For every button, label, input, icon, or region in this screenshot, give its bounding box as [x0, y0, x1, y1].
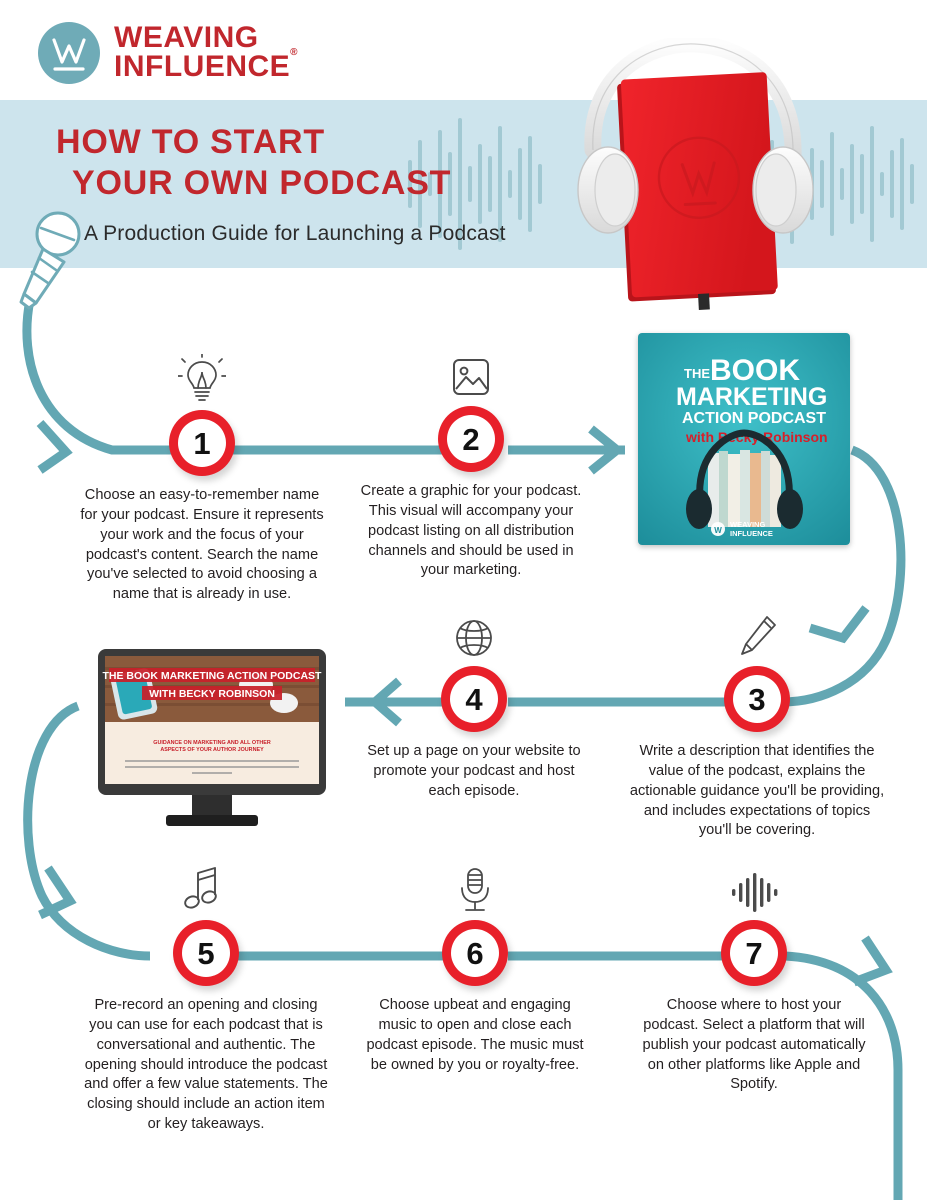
step-number: 6: [466, 938, 483, 969]
lightbulb-icon: [178, 352, 226, 404]
step-badge-2: 2: [438, 406, 504, 472]
step-description: Choose upbeat and engaging music to open…: [360, 996, 590, 1075]
step-number: 1: [193, 428, 210, 459]
step-number: 2: [462, 424, 479, 455]
step-number: 3: [748, 684, 765, 715]
step-badge-3: 3: [724, 666, 790, 732]
step-4: 4 Set up a page on your website to promo…: [360, 608, 588, 802]
monitor-banner-line2: WITH BECKY ROBINSON: [149, 688, 275, 700]
cover-the-label: THE: [684, 366, 710, 381]
step-description: Pre-record an opening and closing you ca…: [82, 996, 330, 1135]
title-line-2: YOUR OWN PODCAST: [72, 163, 451, 204]
audio-waveform-icon: [728, 862, 780, 914]
step-number: 4: [465, 684, 482, 715]
step-number: 7: [745, 938, 762, 969]
svg-text:W: W: [714, 526, 722, 535]
microphone-illustration-icon: [8, 208, 94, 318]
pencil-icon: [735, 608, 779, 660]
step-description: Choose where to host your podcast. Selec…: [638, 996, 870, 1095]
music-notes-icon: [181, 862, 231, 914]
image-placeholder-icon: [448, 348, 494, 400]
step-2: 2 Create a graphic for your podcast. Thi…: [358, 348, 584, 581]
globe-icon: [452, 608, 496, 660]
cover-logo-line2: INFLUENCE: [730, 529, 773, 538]
monitor-banner-line1: THE BOOK MARKETING ACTION PODCAST: [103, 670, 323, 682]
step-description: Write a description that identifies the …: [628, 742, 886, 841]
cover-logo-line1: WEAVING: [730, 520, 765, 529]
step-badge-6: 6: [442, 920, 508, 986]
step-badge-7: 7: [721, 920, 787, 986]
step-6: 6 Choose upbeat and engaging music to op…: [360, 862, 590, 1075]
step-badge-1: 1: [169, 410, 235, 476]
cover-marketing-label: MARKETING: [676, 383, 827, 411]
microphone-icon: [456, 862, 494, 914]
monitor-sub-line1: GUIDANCE ON MARKETING AND ALL OTHER: [153, 740, 271, 746]
podcast-cover-art-image: THE BOOK MARKETING ACTION PODCAST with B…: [638, 333, 850, 545]
cover-action-label: ACTION PODCAST: [682, 410, 826, 427]
step-7: 7 Choose where to host your podcast. Sel…: [638, 862, 870, 1095]
title-line-1: HOW TO START: [56, 122, 451, 163]
step-badge-5: 5: [173, 920, 239, 986]
website-monitor-image: THE BOOK MARKETING ACTION PODCAST WITH B…: [88, 645, 336, 835]
step-number: 5: [197, 938, 214, 969]
monitor-sub-line2: ASPECTS OF YOUR AUTHOR JOURNEY: [160, 747, 264, 753]
step-5: 5 Pre-record an opening and closing you …: [82, 862, 330, 1135]
infographic-page: WEAVING INFLUENCE®: [0, 0, 927, 1200]
step-description: Choose an easy-to-remember name for your…: [78, 486, 326, 605]
page-subtitle: A Production Guide for Launching a Podca…: [84, 222, 506, 246]
red-book-headphones-image: [545, 38, 835, 318]
step-description: Create a graphic for your podcast. This …: [358, 482, 584, 581]
step-badge-4: 4: [441, 666, 507, 732]
step-1: 1 Choose an easy-to-remember name for yo…: [78, 352, 326, 605]
step-description: Set up a page on your website to promote…: [360, 742, 588, 802]
step-3: 3 Write a description that identifies th…: [628, 608, 886, 841]
page-title: HOW TO START YOUR OWN PODCAST: [56, 122, 451, 205]
